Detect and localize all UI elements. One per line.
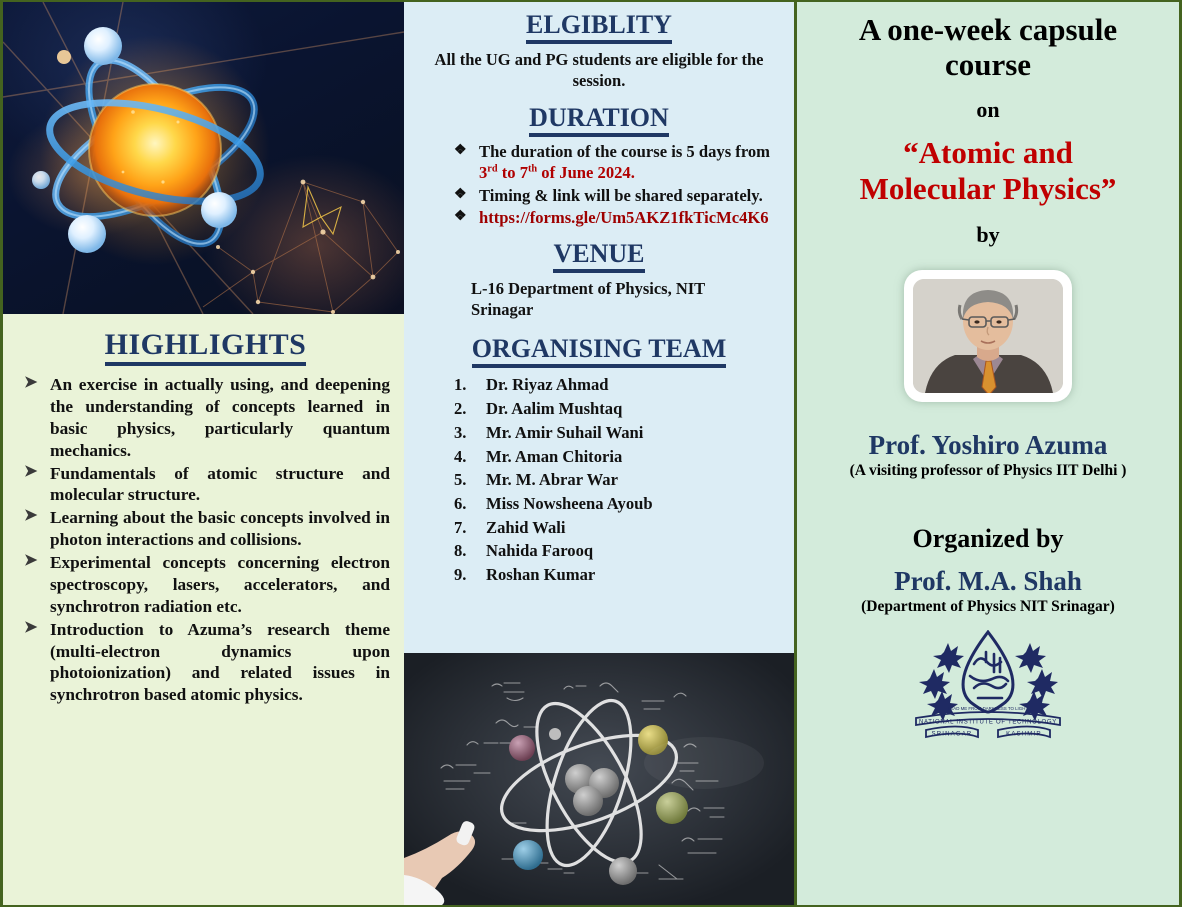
arrow-bullet-icon: ➤ xyxy=(24,462,37,482)
duration-item-link[interactable]: ❖ https://forms.gle/Um5AKZ1fkTicMc4K6 xyxy=(454,208,782,229)
middle-content: ELGIBLITY All the UG and PG students are… xyxy=(404,2,794,587)
organising-team-title: ORGANISING TEAM xyxy=(416,334,782,364)
highlight-item: ➤ Learning about the basic concepts invo… xyxy=(21,507,390,551)
nit-srinagar-logo-icon: LEAD ME FROM DARKNESS TO LIGHT NATIONAL … xyxy=(908,630,1068,740)
duration-title: DURATION xyxy=(416,103,782,133)
logo-institute-text: NATIONAL INSTITUTE OF TECHNOLOGY xyxy=(919,719,1057,725)
team-member: Dr. Riyaz Ahmad xyxy=(454,373,782,397)
diamond-bullet-icon: ❖ xyxy=(454,142,467,160)
diamond-bullet-icon: ❖ xyxy=(454,208,467,226)
team-member: Mr. M. Abrar War xyxy=(454,468,782,492)
team-member: Nahida Farooq xyxy=(454,539,782,563)
speaker-portrait-frame xyxy=(904,270,1072,402)
logo-motto-text: LEAD ME FROM DARKNESS TO LIGHT xyxy=(948,706,1028,711)
venue-text: L-16 Department of Physics, NIT Srinagar xyxy=(416,278,782,320)
middle-column: ELGIBLITY All the UG and PG students are… xyxy=(404,0,794,907)
timing-text: Timing & link will be shared separately. xyxy=(479,186,763,205)
highlights-title: HIGHLIGHTS xyxy=(21,328,390,362)
brochure-page: HIGHLIGHTS ➤ An exercise in actually usi… xyxy=(0,0,1182,907)
course-title-line2: course xyxy=(945,47,1031,82)
team-member: Mr. Amir Suhail Wani xyxy=(454,421,782,445)
eligibility-text: All the UG and PG students are eligible … xyxy=(416,49,782,91)
course-subject: “Atomic and Molecular Physics” xyxy=(813,135,1163,208)
team-member: Roshan Kumar xyxy=(454,563,782,587)
team-member: Mr. Aman Chitoria xyxy=(454,445,782,469)
course-subject-line2: Molecular Physics” xyxy=(860,171,1117,206)
on-label: on xyxy=(813,97,1163,123)
highlight-text: Learning about the basic concepts involv… xyxy=(50,508,390,549)
duration-text-mid: to xyxy=(498,163,520,182)
highlight-text: Fundamentals of atomic structure and mol… xyxy=(50,464,390,505)
right-header: A one-week capsule course on “Atomic and… xyxy=(797,2,1179,248)
organising-team-list: Dr. Riyaz Ahmad Dr. Aalim Mushtaq Mr. Am… xyxy=(416,373,782,586)
diamond-bullet-icon: ❖ xyxy=(454,186,467,204)
left-column: HIGHLIGHTS ➤ An exercise in actually usi… xyxy=(0,0,404,907)
speaker-portrait-photo xyxy=(913,279,1063,393)
organizer-name: Prof. M.A. Shah xyxy=(894,566,1082,597)
arrow-bullet-icon: ➤ xyxy=(24,618,37,638)
highlight-text: An exercise in actually using, and deepe… xyxy=(50,375,390,460)
duration-end-day-suffix: th xyxy=(528,163,537,174)
duration-item-dates: ❖ The duration of the course is 5 days f… xyxy=(454,142,782,183)
team-member: Zahid Wali xyxy=(454,516,782,540)
highlight-text: Introduction to Azuma’s research theme (… xyxy=(50,620,390,705)
team-member: Miss Nowsheena Ayoub xyxy=(454,492,782,516)
arrow-bullet-icon: ➤ xyxy=(24,551,37,571)
highlight-item: ➤ Experimental concepts concerning elect… xyxy=(21,552,390,618)
eligibility-title: ELGIBLITY xyxy=(416,10,782,40)
atom-illustration-image xyxy=(3,2,404,314)
registration-link[interactable]: https://forms.gle/Um5AKZ1fkTicMc4K6 xyxy=(479,208,769,227)
arrow-bullet-icon: ➤ xyxy=(24,373,37,393)
organized-by-label: Organized by xyxy=(913,524,1064,554)
duration-end-day: 7 xyxy=(520,163,528,182)
course-title-line1: A one-week capsule xyxy=(859,12,1117,47)
venue-title: VENUE xyxy=(416,239,782,269)
duration-text-post: of June 2024. xyxy=(537,163,635,182)
course-title: A one-week capsule course xyxy=(813,12,1163,83)
logo-srinagar-text: SRINAGAR xyxy=(932,731,973,737)
blackboard-image xyxy=(404,653,794,905)
highlight-text: Experimental concepts concerning electro… xyxy=(50,553,390,616)
duration-start-day-suffix: rd xyxy=(487,163,497,174)
highlight-item: ➤ An exercise in actually using, and dee… xyxy=(21,374,390,462)
by-label: by xyxy=(813,222,1163,248)
speaker-affiliation: (A visiting professor of Physics IIT Del… xyxy=(850,462,1127,480)
highlights-section: HIGHLIGHTS ➤ An exercise in actually usi… xyxy=(3,314,404,905)
duration-item-timing: ❖ Timing & link will be shared separatel… xyxy=(454,186,782,207)
arrow-bullet-icon: ➤ xyxy=(24,506,37,526)
logo-kashmir-text: KASHMIR xyxy=(1006,731,1042,737)
team-member: Dr. Aalim Mushtaq xyxy=(454,397,782,421)
duration-list: ❖ The duration of the course is 5 days f… xyxy=(416,142,782,229)
highlight-item: ➤ Fundamentals of atomic structure and m… xyxy=(21,463,390,507)
speaker-name: Prof. Yoshiro Azuma xyxy=(869,430,1108,461)
duration-text-pre: The duration of the course is 5 days fro… xyxy=(479,142,770,161)
course-subject-line1: “Atomic and xyxy=(903,135,1073,170)
organizer-affiliation: (Department of Physics NIT Srinagar) xyxy=(861,598,1115,616)
highlights-list: ➤ An exercise in actually using, and dee… xyxy=(21,374,390,706)
right-column: A one-week capsule course on “Atomic and… xyxy=(794,0,1182,907)
highlight-item: ➤ Introduction to Azuma’s research theme… xyxy=(21,619,390,707)
